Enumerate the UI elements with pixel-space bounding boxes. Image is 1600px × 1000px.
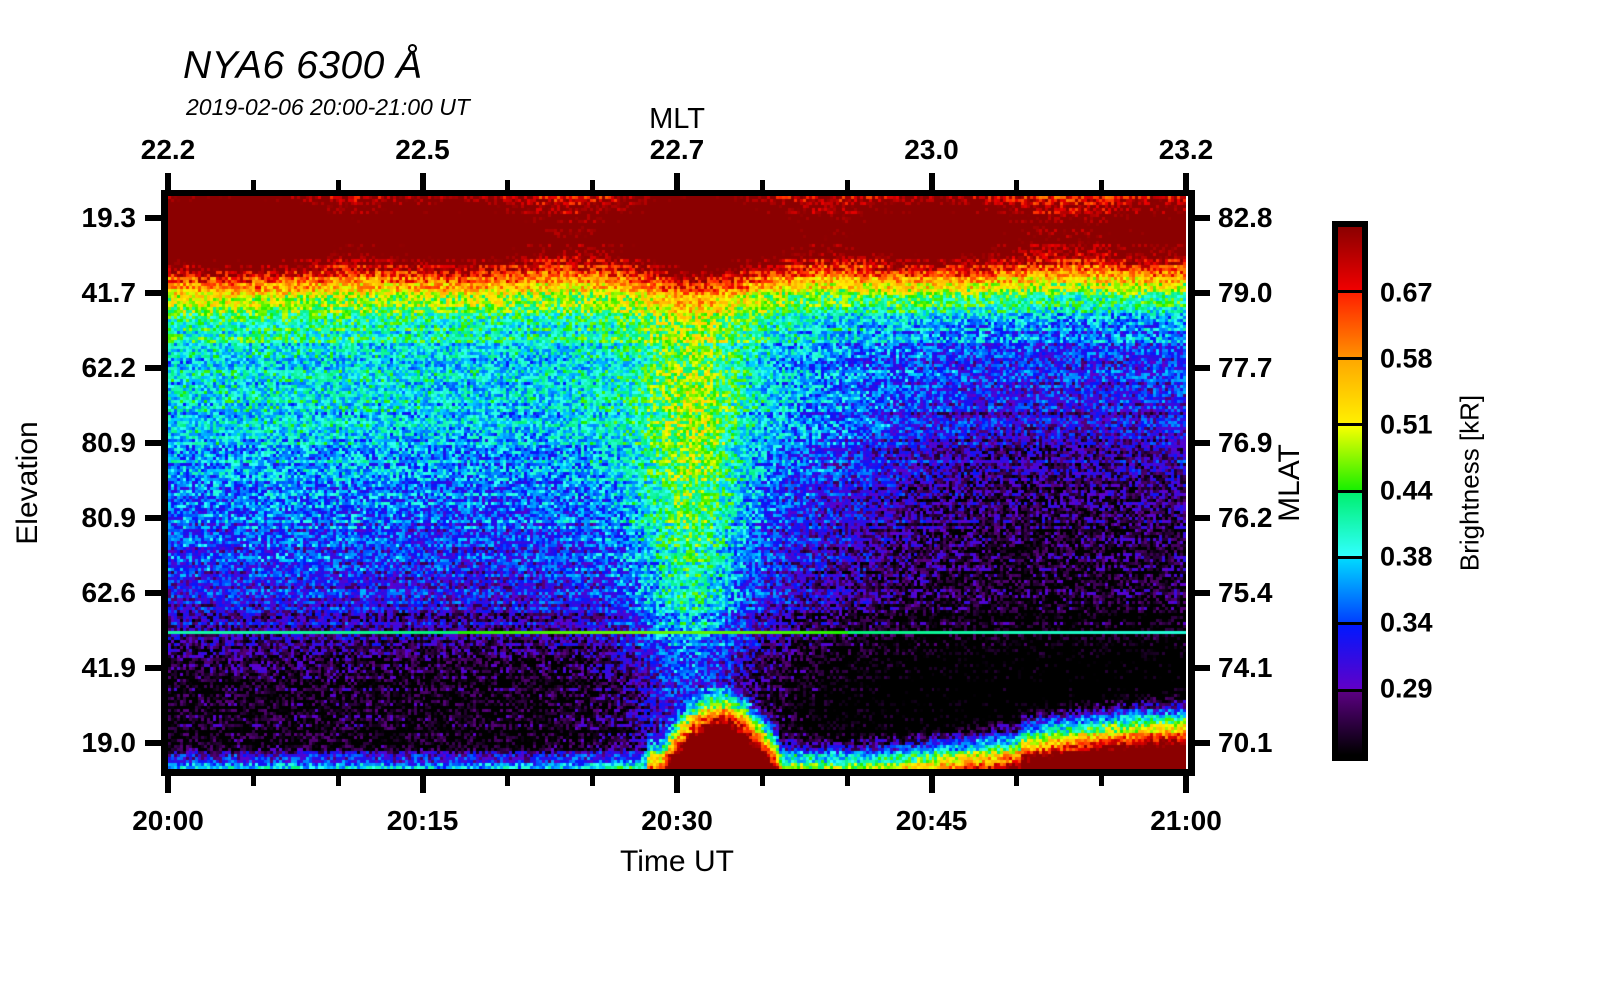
colorbar xyxy=(1332,221,1368,761)
colorbar-tick-label: 0.67 xyxy=(1380,278,1433,309)
tick-minor-bottom xyxy=(336,776,341,786)
axis-line-top xyxy=(168,190,1188,196)
tick-major-bottom xyxy=(674,776,680,793)
tick-major-right xyxy=(1193,515,1210,521)
tick-minor-top xyxy=(590,180,595,190)
tick-label-bottom: 20:15 xyxy=(387,805,459,837)
tick-label-bottom: 20:45 xyxy=(896,805,968,837)
right-axis-label: MLAT xyxy=(1273,444,1307,522)
tick-minor-top xyxy=(505,180,510,190)
tick-major-right xyxy=(1193,740,1210,746)
tick-major-left xyxy=(145,215,162,221)
tick-major-left xyxy=(145,590,162,596)
tick-label-left: 19.0 xyxy=(82,727,137,759)
tick-major-right xyxy=(1193,290,1210,296)
tick-major-bottom xyxy=(1183,776,1189,793)
tick-major-top xyxy=(674,173,680,190)
tick-major-right xyxy=(1193,215,1210,221)
keogram-heatmap xyxy=(168,196,1186,769)
colorbar-tick-label: 0.29 xyxy=(1380,674,1433,705)
tick-minor-top xyxy=(251,180,256,190)
tick-label-top: 23.0 xyxy=(904,134,959,166)
tick-major-bottom xyxy=(929,776,935,793)
tick-label-right: 70.1 xyxy=(1218,727,1273,759)
tick-label-top: 22.7 xyxy=(650,134,705,166)
tick-major-left xyxy=(145,740,162,746)
tick-minor-bottom xyxy=(251,776,256,786)
colorbar-tick-label: 0.44 xyxy=(1380,476,1433,507)
page-subtitle: 2019-02-06 20:00-21:00 UT xyxy=(186,94,470,121)
tick-label-left: 19.3 xyxy=(82,202,137,234)
top-axis-label: MLT xyxy=(649,103,705,136)
keogram-plot-area xyxy=(168,196,1186,769)
tick-major-bottom xyxy=(165,776,171,793)
tick-label-left: 80.9 xyxy=(82,502,137,534)
tick-major-right xyxy=(1193,665,1210,671)
tick-minor-bottom xyxy=(1014,776,1019,786)
tick-label-right: 75.4 xyxy=(1218,577,1273,609)
tick-label-right: 76.2 xyxy=(1218,502,1273,534)
tick-minor-top xyxy=(1014,180,1019,190)
tick-major-left xyxy=(145,440,162,446)
tick-major-right xyxy=(1193,590,1210,596)
tick-major-top xyxy=(165,173,171,190)
colorbar-tick-label: 0.58 xyxy=(1380,344,1433,375)
tick-label-right: 79.0 xyxy=(1218,277,1273,309)
tick-minor-top xyxy=(336,180,341,190)
tick-label-left: 41.7 xyxy=(82,277,137,309)
tick-label-top: 22.2 xyxy=(141,134,196,166)
axis-line-bottom xyxy=(168,769,1188,776)
tick-minor-bottom xyxy=(845,776,850,786)
tick-major-right xyxy=(1193,440,1210,446)
tick-label-top: 23.2 xyxy=(1159,134,1214,166)
colorbar-tick-label: 0.34 xyxy=(1380,608,1433,639)
tick-major-top xyxy=(420,173,426,190)
tick-minor-bottom xyxy=(1099,776,1104,786)
tick-label-bottom: 20:00 xyxy=(132,805,204,837)
axis-line-left xyxy=(161,190,168,776)
bottom-axis-label: Time UT xyxy=(620,845,734,879)
tick-major-right xyxy=(1193,365,1210,371)
tick-label-left: 80.9 xyxy=(82,427,137,459)
tick-minor-bottom xyxy=(760,776,765,786)
tick-minor-top xyxy=(845,180,850,190)
colorbar-tick-label: 0.38 xyxy=(1380,542,1433,573)
tick-major-left xyxy=(145,290,162,296)
axis-line-right xyxy=(1188,190,1195,776)
tick-minor-top xyxy=(1099,180,1104,190)
colorbar-tick-label: 0.51 xyxy=(1380,410,1433,441)
tick-minor-top xyxy=(760,180,765,190)
colorbar-axis-label: Brightness [kR] xyxy=(1455,395,1486,571)
tick-label-right: 74.1 xyxy=(1218,652,1273,684)
tick-major-top xyxy=(929,173,935,190)
tick-major-left xyxy=(145,515,162,521)
tick-major-left xyxy=(145,365,162,371)
colorbar-outline xyxy=(1332,221,1368,761)
tick-minor-bottom xyxy=(505,776,510,786)
tick-label-top: 22.5 xyxy=(395,134,450,166)
tick-label-left: 62.6 xyxy=(82,577,137,609)
tick-minor-bottom xyxy=(590,776,595,786)
tick-label-right: 77.7 xyxy=(1218,352,1273,384)
tick-label-left: 41.9 xyxy=(82,652,137,684)
tick-label-right: 82.8 xyxy=(1218,202,1273,234)
tick-label-bottom: 21:00 xyxy=(1150,805,1222,837)
tick-major-top xyxy=(1183,173,1189,190)
left-axis-label: Elevation xyxy=(11,421,45,544)
tick-label-right: 76.9 xyxy=(1218,427,1273,459)
tick-label-left: 62.2 xyxy=(82,352,137,384)
tick-major-left xyxy=(145,665,162,671)
tick-major-bottom xyxy=(420,776,426,793)
page-title: NYA6 6300 Å xyxy=(183,44,423,88)
tick-label-bottom: 20:30 xyxy=(641,805,713,837)
